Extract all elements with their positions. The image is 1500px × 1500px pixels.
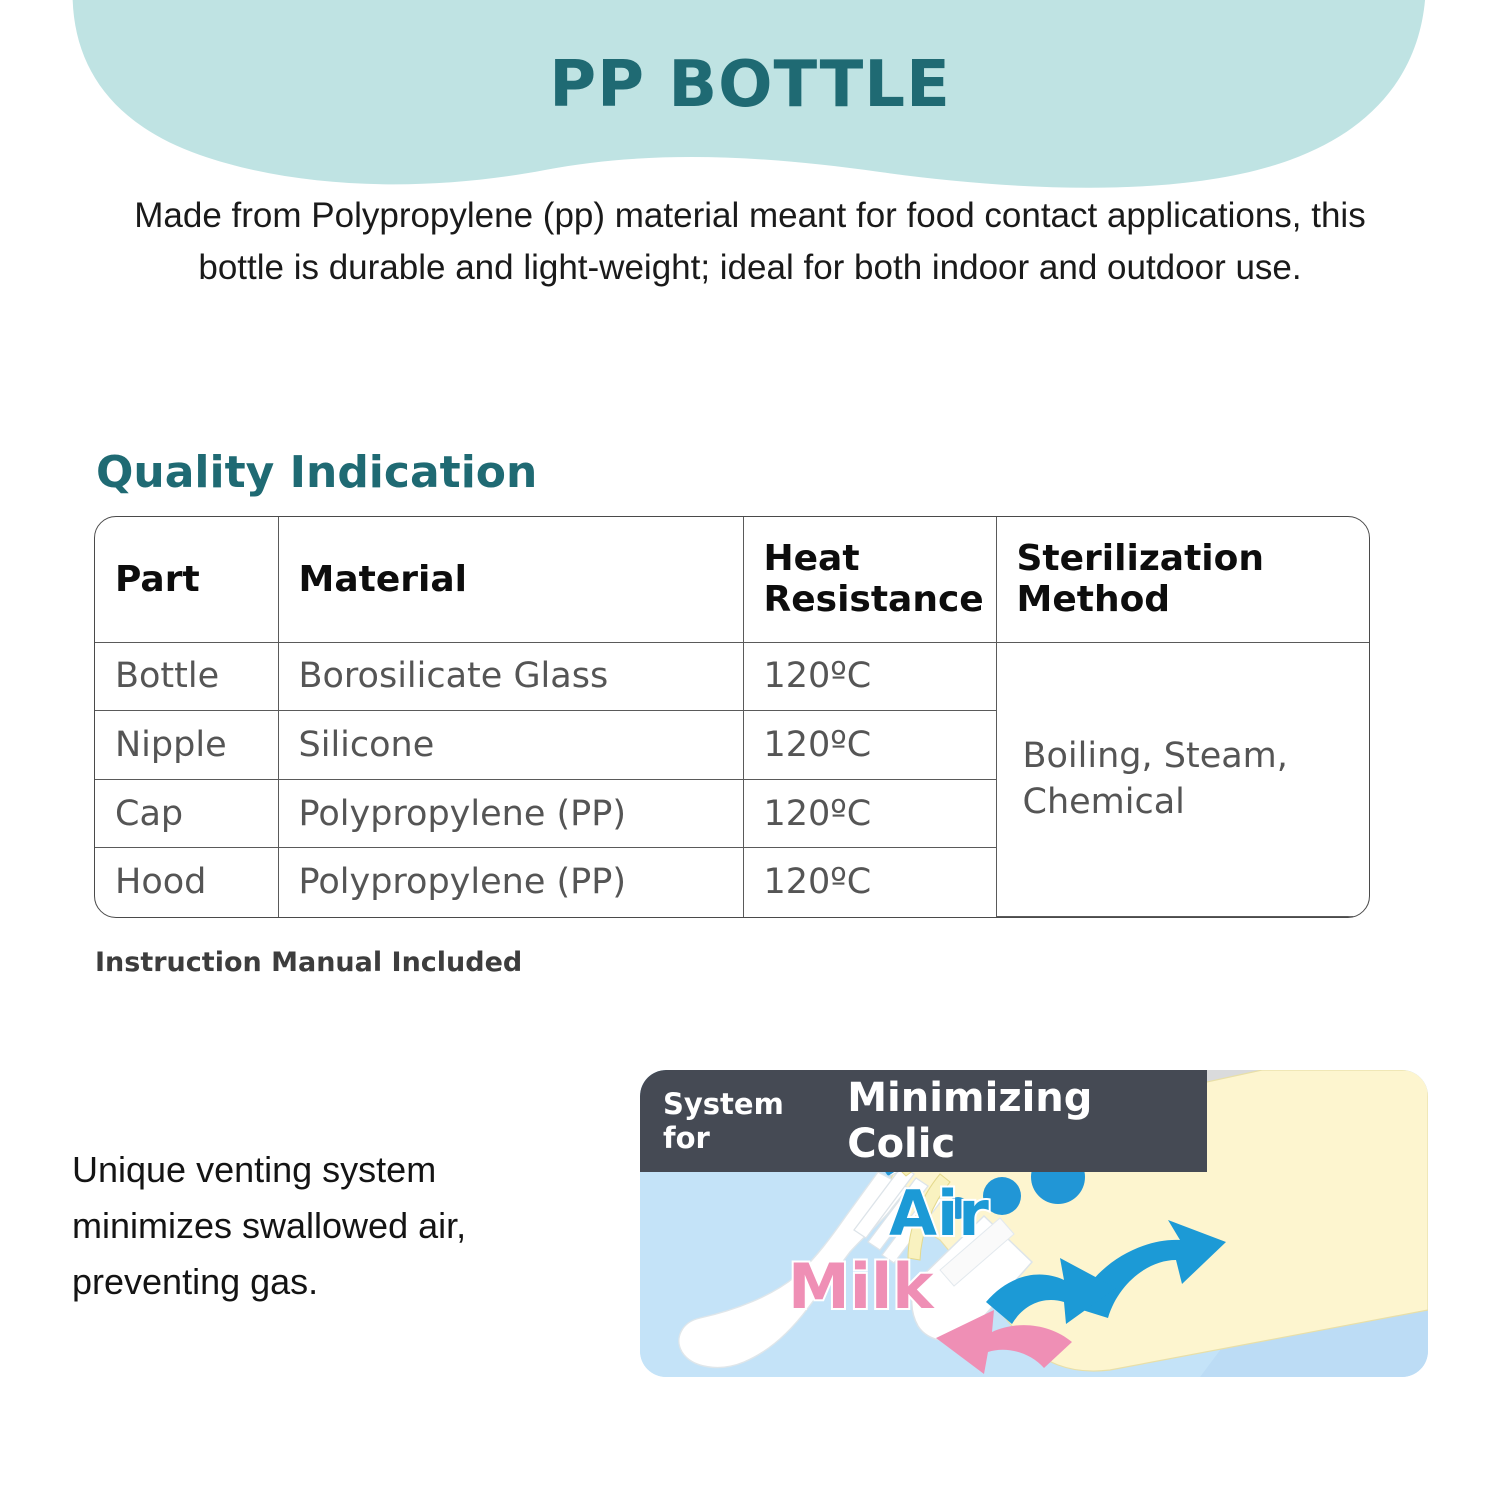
page-title: PP BOTTLE [0, 48, 1500, 122]
colic-banner: System for Minimizing Colic [640, 1070, 1207, 1172]
air-label: Air [889, 1183, 989, 1245]
column-header-material: Material [278, 517, 743, 642]
milk-label: Milk [788, 1256, 933, 1318]
cell-part: Hood [95, 848, 278, 917]
column-header-part: Part [95, 517, 278, 642]
quality-indication-table: Part Material Heat Resistance Sterilizat… [94, 516, 1370, 918]
venting-system-description: Unique venting system minimizes swallowe… [72, 1142, 592, 1310]
cell-sterilization-method: Boiling, Steam, Chemical [996, 642, 1370, 917]
column-header-heat-resistance: Heat Resistance [743, 517, 996, 642]
cell-part: Cap [95, 779, 278, 848]
cell-material: Polypropylene (PP) [278, 848, 743, 917]
cell-part: Nipple [95, 711, 278, 780]
table-row: Bottle Borosilicate Glass 120ºC Boiling,… [95, 642, 1370, 711]
minimizing-colic-panel: System for Minimizing Colic [640, 1070, 1428, 1377]
cell-heat: 120ºC [743, 779, 996, 848]
cell-material: Silicone [278, 711, 743, 780]
cell-material: Polypropylene (PP) [278, 779, 743, 848]
cell-part: Bottle [95, 642, 278, 711]
banner-small-text: System for [663, 1087, 837, 1155]
banner-big-text: Minimizing Colic [847, 1075, 1207, 1167]
table-header-row: Part Material Heat Resistance Sterilizat… [95, 517, 1370, 642]
column-header-sterilization-method: Sterilization Method [996, 517, 1370, 642]
cell-material: Borosilicate Glass [278, 642, 743, 711]
quality-indication-heading: Quality Indication [96, 447, 537, 498]
product-info-page: PP BOTTLE Made from Polypropylene (pp) m… [0, 0, 1500, 1500]
intro-paragraph: Made from Polypropylene (pp) material me… [130, 190, 1370, 294]
cell-heat: 120ºC [743, 642, 996, 711]
instruction-manual-note: Instruction Manual Included [95, 947, 522, 978]
cell-heat: 120ºC [743, 848, 996, 917]
cell-heat: 120ºC [743, 711, 996, 780]
